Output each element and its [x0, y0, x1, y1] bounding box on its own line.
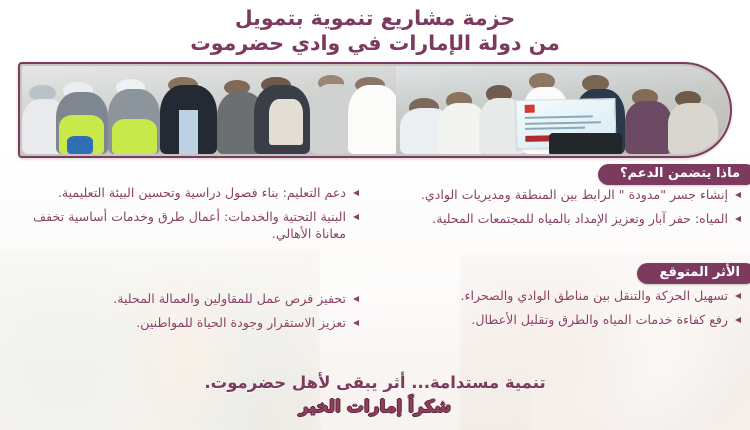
bullet-item: دعم التعليم: بناء فصول دراسية وتحسين الب…	[8, 184, 360, 202]
footer-logo-wrap: شكراً إمارات الخير	[0, 396, 750, 418]
photo-left	[396, 66, 728, 154]
impact-bullets-right: تسهيل الحركة والتنقل بين مناطق الوادي وا…	[390, 287, 742, 334]
bullet-item: البنية التحتية والخدمات: أعمال طرق وخدما…	[8, 208, 360, 243]
thanks-emirates-logo: شكراً إمارات الخير	[293, 396, 457, 418]
section-badge-impact: الأثر المتوقع	[637, 263, 750, 284]
title-line-2: من دولة الإمارات في وادي حضرموت	[0, 31, 750, 56]
impact-bullets-left: تحفيز فرص عمل للمقاولين والعمالة المحلية…	[8, 290, 360, 337]
photo-right	[22, 66, 396, 154]
bullet-item: تسهيل الحركة والتنقل بين مناطق الوادي وا…	[390, 287, 742, 305]
page-title: حزمة مشاريع تنموية بتمويل من دولة الإمار…	[0, 6, 750, 56]
support-bullets-right: إنشاء جسر "مدودة " الرابط بين المنطقة وم…	[390, 186, 742, 233]
infographic-canvas: حزمة مشاريع تنموية بتمويل من دولة الإمار…	[0, 0, 750, 430]
bullet-item: المياه: حفر آبار وتعزيز الإمداد بالمياه …	[390, 210, 742, 228]
bullet-item: تعزيز الاستقرار وجودة الحياة للمواطنين.	[8, 314, 360, 332]
bullet-item: تحفيز فرص عمل للمقاولين والعمالة المحلية…	[8, 290, 360, 308]
bullet-item: إنشاء جسر "مدودة " الرابط بين المنطقة وم…	[390, 186, 742, 204]
photo-strip	[18, 62, 732, 158]
footer-tagline: تنمية مستدامة... أثر يبقى لأهل حضرموت.	[0, 372, 750, 393]
bullet-item: رفع كفاءة خدمات المياه والطرق وتقليل الأ…	[390, 311, 742, 329]
support-bullets-left: دعم التعليم: بناء فصول دراسية وتحسين الب…	[8, 184, 360, 249]
title-line-1: حزمة مشاريع تنموية بتمويل	[0, 6, 750, 31]
section-badge-support: ماذا يتضمن الدعم؟	[598, 164, 750, 185]
